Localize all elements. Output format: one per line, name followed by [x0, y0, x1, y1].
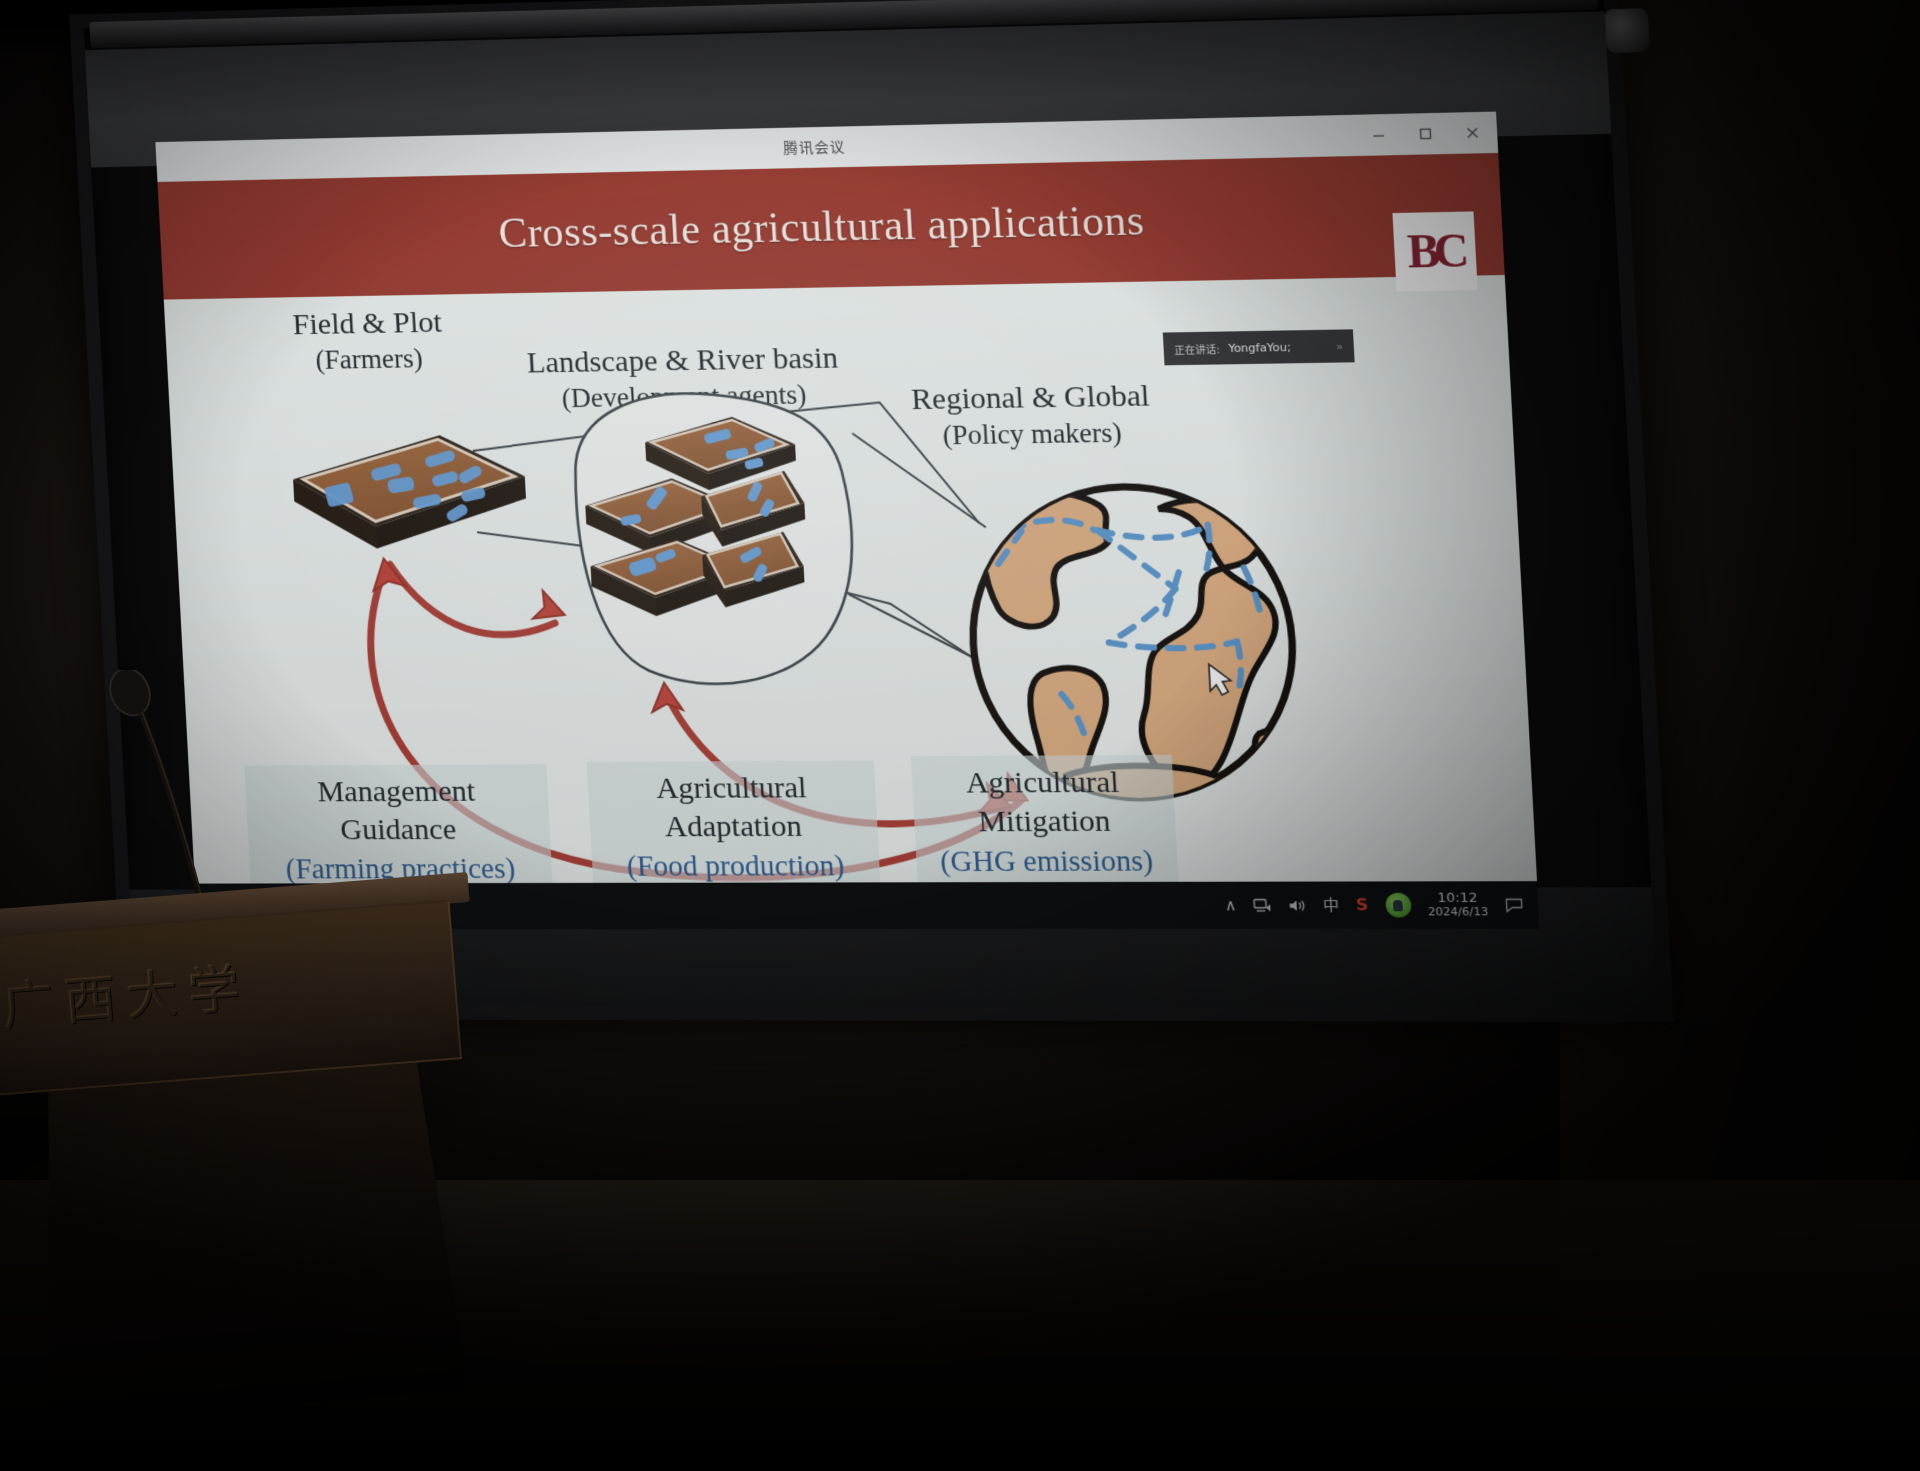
podium-base — [23, 1061, 468, 1423]
clock-date: 2024/6/13 — [1428, 906, 1489, 919]
callout-agricultural-adaptation: Agricultural Adaptation (Food production… — [587, 760, 881, 896]
clock-time: 10:12 — [1427, 891, 1488, 906]
callout-line2: Guidance — [261, 810, 537, 849]
callout-line1: Agricultural — [926, 763, 1160, 803]
speaking-label: 正在讲话: — [1174, 340, 1220, 356]
close-icon[interactable] — [1462, 123, 1482, 142]
screen-roller-knob — [1605, 8, 1650, 53]
minimize-icon[interactable] — [1369, 125, 1389, 144]
chevron-right-icon[interactable]: » — [1336, 339, 1344, 353]
field-plot-tile — [291, 434, 529, 549]
callout-line1: Agricultural — [601, 769, 861, 808]
ime-chinese-icon[interactable]: 中 — [1323, 897, 1340, 912]
podium-engraving: 广西大学 — [0, 938, 354, 1045]
callout-line2: Adaptation — [603, 807, 863, 846]
callout-subtitle: (GHG emissions) — [930, 843, 1164, 882]
speaker-name: YongfaYou; — [1228, 340, 1291, 354]
lecture-room: 腾讯会议 Cross-scale agricultural applicat — [0, 0, 1920, 1440]
taskbar-clock[interactable]: 10:12 2024/6/13 — [1427, 891, 1489, 919]
callout-line2: Mitigation — [928, 802, 1162, 841]
active-speaker-overlay[interactable]: 正在讲话: YongfaYou; » — [1163, 329, 1355, 365]
projection-screen: 腾讯会议 Cross-scale agricultural applicat — [69, 0, 1673, 1022]
network-icon[interactable] — [1253, 898, 1272, 913]
app-title-text: 腾讯会议 — [783, 137, 846, 159]
window-controls — [1368, 112, 1483, 156]
restore-icon[interactable] — [1415, 124, 1435, 143]
callout-subtitle: (Food production) — [606, 847, 866, 886]
lectern-podium: 广西大学 — [0, 869, 551, 1471]
volume-icon[interactable] — [1288, 898, 1307, 913]
callout-line1: Management — [259, 772, 535, 811]
presentation-slide: Cross-scale agricultural applications BC… — [157, 153, 1539, 930]
action-center-icon[interactable] — [1505, 897, 1524, 913]
projected-desktop: 腾讯会议 Cross-scale agricultural applicat — [155, 112, 1539, 930]
meeting-app-icon[interactable] — [1385, 893, 1412, 918]
callout-agricultural-mitigation: Agricultural Mitigation (GHG emissions) — [911, 755, 1179, 892]
show-hidden-icons-icon[interactable]: ∧ — [1225, 898, 1237, 913]
sogou-input-icon[interactable]: S — [1356, 897, 1369, 913]
